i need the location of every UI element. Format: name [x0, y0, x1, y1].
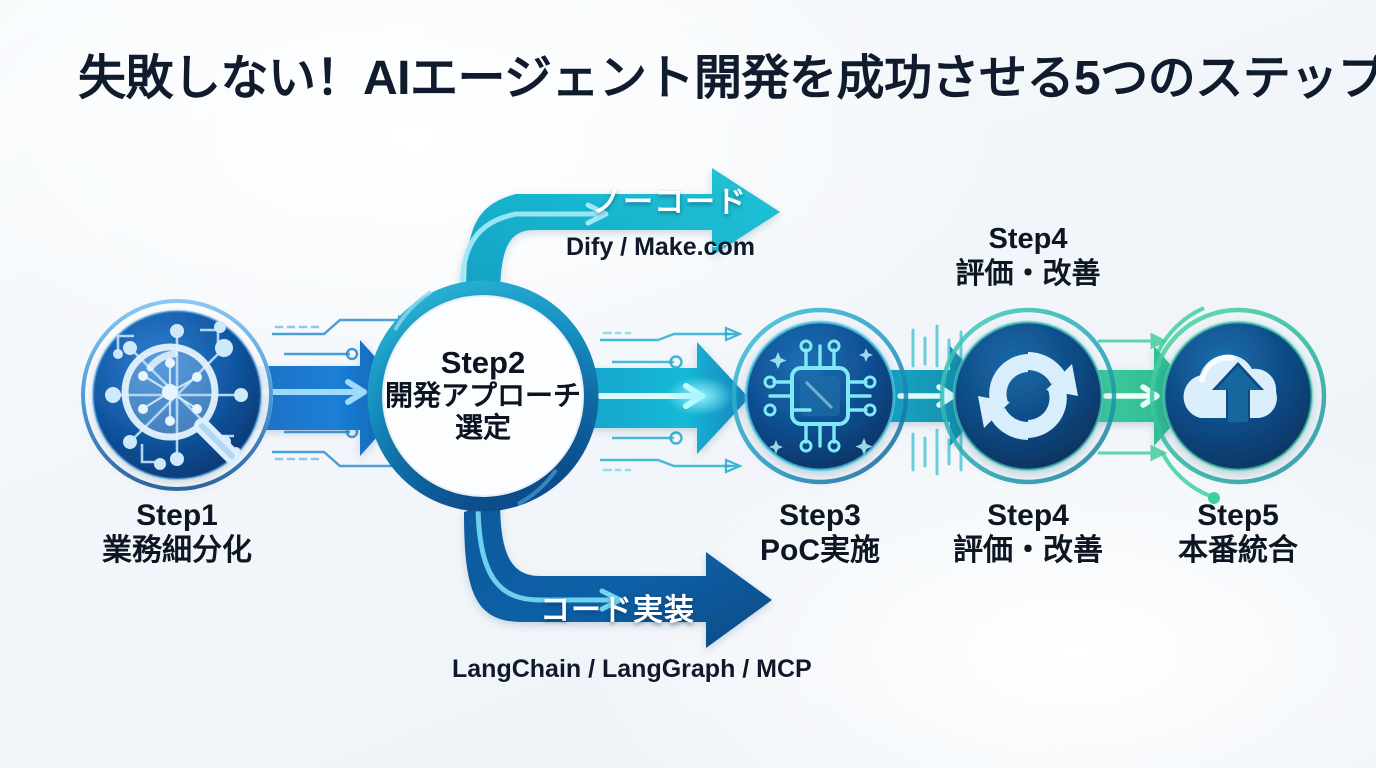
step4-name: 評価・改善 — [928, 533, 1128, 568]
branch-label-no-code: ノーコード — [592, 177, 747, 221]
step3-number: Step3 — [720, 498, 920, 533]
step3-label: Step3 PoC実施 — [720, 498, 920, 569]
step1-label: Step1 業務細分化 — [77, 498, 277, 569]
step2-name-line1: 開発アプローチ — [383, 380, 583, 412]
top-badge-step4: Step4 評価・改善 — [928, 222, 1128, 292]
step2-number: Step2 — [383, 345, 583, 380]
step1-name: 業務細分化 — [77, 533, 277, 568]
step2-center-text: Step2 開発アプローチ 選定 — [383, 345, 583, 444]
branch-tools-code-impl: LangChain / LangGraph / MCP — [452, 655, 812, 684]
top-badge-name: 評価・改善 — [928, 257, 1128, 292]
step4-label: Step4 評価・改善 — [928, 498, 1128, 569]
step3-name: PoC実施 — [720, 533, 920, 568]
step4-number: Step4 — [928, 498, 1128, 533]
branch-label-code-impl: コード実装 — [540, 585, 695, 629]
infographic-canvas: 失敗しない！AIエージェント開発を成功させる5つのステップ — [0, 0, 1376, 768]
step5-name: 本番統合 — [1138, 533, 1338, 568]
step5-label: Step5 本番統合 — [1138, 498, 1338, 569]
step5-number: Step5 — [1138, 498, 1338, 533]
branch-tools-no-code: Dify / Make.com — [566, 233, 755, 262]
step2-name-line2: 選定 — [383, 412, 583, 444]
step1-number: Step1 — [77, 498, 277, 533]
diagram-artwork — [0, 0, 1376, 768]
top-badge-number: Step4 — [928, 222, 1128, 257]
